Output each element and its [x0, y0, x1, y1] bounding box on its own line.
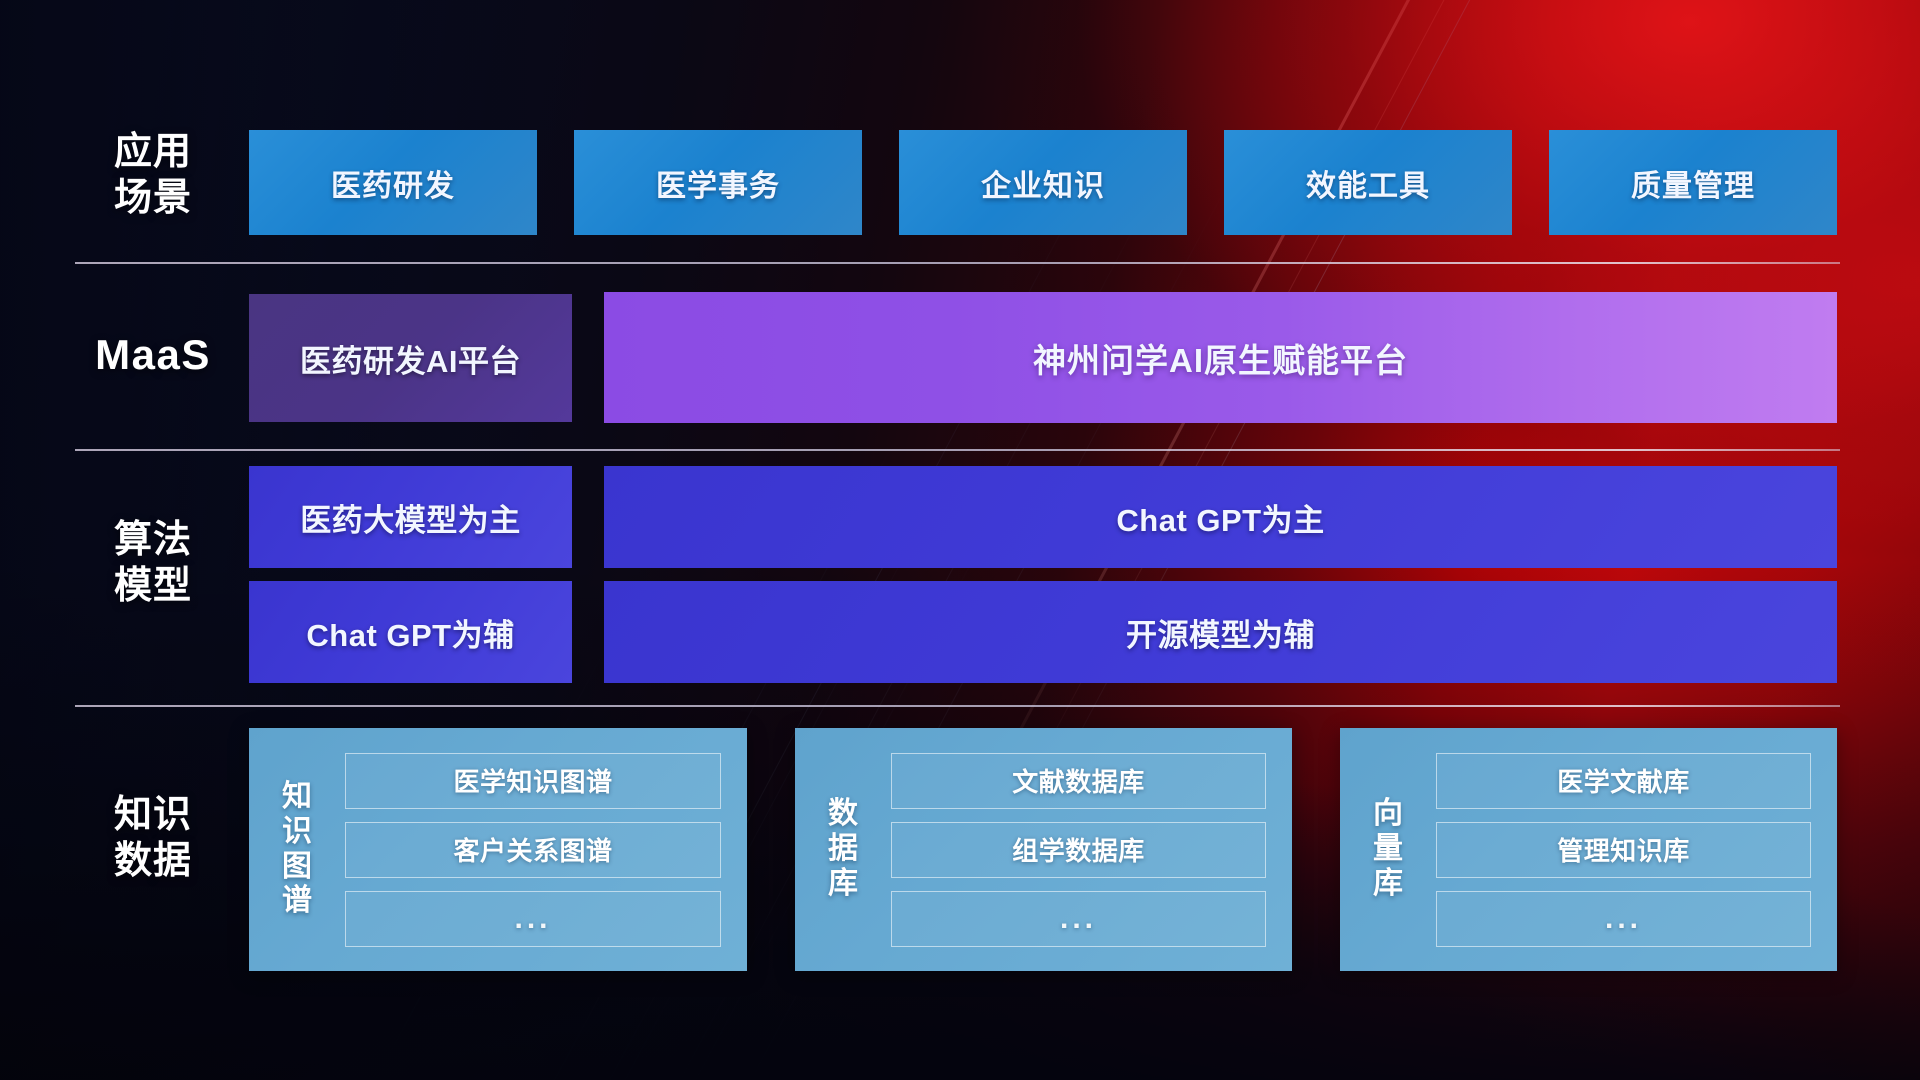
group-title-line: 知: [257, 780, 337, 815]
row-label-line: 数据: [78, 839, 228, 885]
knowledge-group-items-knowledge-graph: 医学知识图谱 客户关系图谱 ...: [337, 739, 747, 961]
divider-after-maas: [75, 449, 1840, 451]
row-label-maas: MaaS: [78, 330, 228, 380]
group-title-line: 图: [257, 850, 337, 885]
group-title-line: 库: [1348, 867, 1428, 902]
divider-after-application-scenarios: [75, 262, 1840, 264]
algo-box-chatgpt-primary[interactable]: Chat GPT为主: [604, 466, 1837, 568]
row-label-line: 模型: [78, 564, 228, 610]
divider-after-algorithm-model: [75, 705, 1840, 707]
knowledge-group-database[interactable]: 数 据 库 文献数据库 组学数据库 ...: [795, 728, 1292, 971]
knowledge-group-title-vector-database: 向 量 库: [1340, 797, 1428, 901]
knowledge-item-more-knowledge-graph[interactable]: ...: [345, 891, 721, 947]
knowledge-item-medical-knowledge-graph[interactable]: 医学知识图谱: [345, 753, 721, 809]
algo-box-open-source-secondary[interactable]: 开源模型为辅: [604, 581, 1837, 683]
knowledge-group-vector-database[interactable]: 向 量 库 医学文献库 管理知识库 ...: [1340, 728, 1837, 971]
app-box-quality-management[interactable]: 质量管理: [1549, 130, 1837, 235]
app-box-enterprise-knowledge[interactable]: 企业知识: [899, 130, 1187, 235]
app-box-medical-affairs[interactable]: 医学事务: [574, 130, 862, 235]
algo-box-chatgpt-secondary[interactable]: Chat GPT为辅: [249, 581, 572, 683]
group-title-line: 库: [803, 867, 883, 902]
knowledge-group-title-database: 数 据 库: [795, 797, 883, 901]
knowledge-item-customer-relation-graph[interactable]: 客户关系图谱: [345, 822, 721, 878]
row-label-line: 场景: [78, 176, 228, 222]
row-label-application-scenarios: 应用 场景: [78, 130, 228, 221]
knowledge-item-more-vector-database[interactable]: ...: [1436, 891, 1811, 947]
row-label-line: 知识: [78, 793, 228, 839]
row-label-line: MaaS: [78, 330, 228, 380]
knowledge-group-items-vector-database: 医学文献库 管理知识库 ...: [1428, 739, 1837, 961]
row-label-line: 应用: [78, 130, 228, 176]
knowledge-group-items-database: 文献数据库 组学数据库 ...: [883, 739, 1292, 961]
algo-box-drug-large-model-primary[interactable]: 医药大模型为主: [249, 466, 572, 568]
maas-box-drug-rd-ai-platform[interactable]: 医药研发AI平台: [249, 294, 572, 422]
group-title-line: 数: [803, 797, 883, 832]
knowledge-item-management-knowledge-base[interactable]: 管理知识库: [1436, 822, 1811, 878]
knowledge-item-medical-literature-library[interactable]: 医学文献库: [1436, 753, 1811, 809]
knowledge-group-knowledge-graph[interactable]: 知 识 图 谱 医学知识图谱 客户关系图谱 ...: [249, 728, 747, 971]
group-title-line: 向: [1348, 797, 1428, 832]
app-box-drug-rd[interactable]: 医药研发: [249, 130, 537, 235]
group-title-line: 谱: [257, 884, 337, 919]
maas-box-shenzhou-wenxue-platform[interactable]: 神州问学AI原生赋能平台: [604, 292, 1837, 423]
row-label-knowledge-data: 知识 数据: [78, 793, 228, 884]
group-title-line: 据: [803, 832, 883, 867]
knowledge-item-more-database[interactable]: ...: [891, 891, 1266, 947]
app-box-efficiency-tools[interactable]: 效能工具: [1224, 130, 1512, 235]
row-label-algorithm-model: 算法 模型: [78, 518, 228, 609]
architecture-diagram: 应用 场景 医药研发 医学事务 企业知识 效能工具 质量管理 MaaS 医药研发…: [0, 0, 1920, 1080]
knowledge-item-omics-database[interactable]: 组学数据库: [891, 822, 1266, 878]
knowledge-item-literature-database[interactable]: 文献数据库: [891, 753, 1266, 809]
group-title-line: 识: [257, 815, 337, 850]
row-label-line: 算法: [78, 518, 228, 564]
group-title-line: 量: [1348, 832, 1428, 867]
knowledge-group-title-knowledge-graph: 知 识 图 谱: [249, 780, 337, 919]
